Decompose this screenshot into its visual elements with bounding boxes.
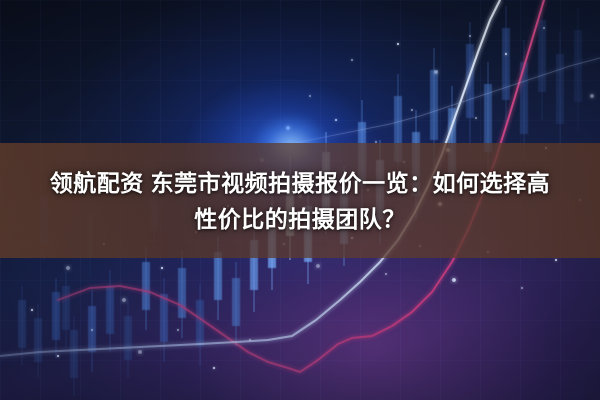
title-line-2: 性价比的拍摄团队？ [194, 201, 406, 237]
banner-image: 领航配资 东莞市视频拍摄报价一览：如何选择高 性价比的拍摄团队？ [0, 0, 600, 400]
title-block: 领航配资 东莞市视频拍摄报价一览：如何选择高 性价比的拍摄团队？ [0, 143, 600, 258]
title-line-1: 领航配资 东莞市视频拍摄报价一览：如何选择高 [50, 165, 550, 201]
